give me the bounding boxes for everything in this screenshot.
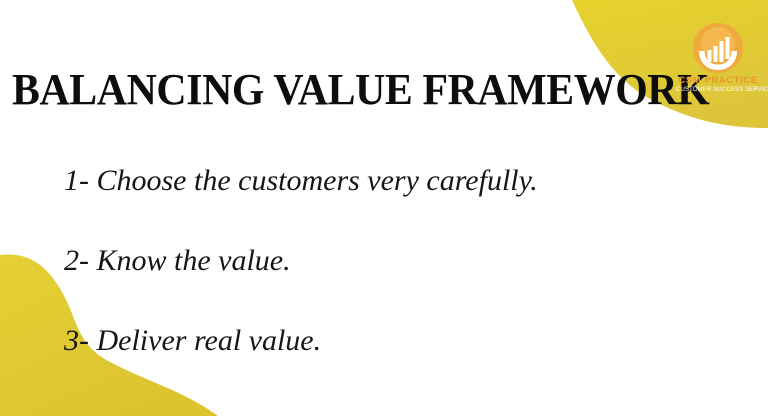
bullet-list: 1- Choose the customers very carefully. … — [64, 132, 704, 360]
logo-tagline: CUSTOMER SUCCESS SERVICES — [676, 86, 760, 94]
page-title: BALANCING VALUE FRAMEWORK — [12, 65, 709, 115]
bullet-item-1: 1- Choose the customers very carefully. — [64, 162, 704, 200]
bullet-item-3: 3- Deliver real value. — [64, 322, 704, 360]
logo-brand-name: CSM PRACTICE — [676, 75, 760, 86]
bar-chart-in-circle-icon — [692, 22, 744, 74]
brand-logo: CSM PRACTICE CUSTOMER SUCCESS SERVICES — [676, 22, 760, 94]
slide-canvas: BALANCING VALUE FRAMEWORK 1- Choose the … — [0, 0, 768, 416]
bullet-item-2: 2- Know the value. — [64, 242, 704, 280]
